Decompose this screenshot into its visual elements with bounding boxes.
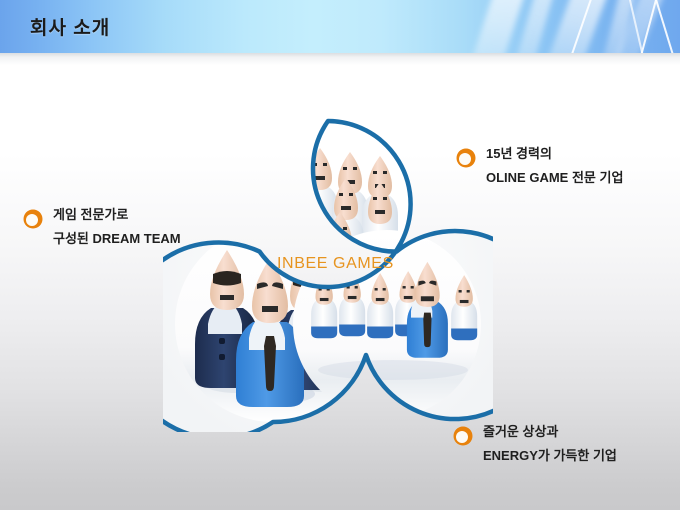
callout-line-2: 구성된 DREAM TEAM <box>53 232 181 246</box>
callout-text-block: 15년 경력의 OLINE GAME 전문 기업 <box>486 146 623 184</box>
callout-energy[interactable]: 즐거운 상상과 ENERGY가 가득한 기업 <box>452 424 617 462</box>
page-title: 회사 소개 <box>30 13 110 40</box>
callout-line-1: 15년 경력의 <box>486 147 623 161</box>
orange-ring-bullet-icon <box>22 208 44 230</box>
orange-ring-bullet-icon <box>455 147 477 169</box>
orange-ring-bullet-icon <box>452 425 474 447</box>
slide-canvas: 회사 소개 <box>0 0 680 510</box>
callout-text-block: 즐거운 상상과 ENERGY가 가득한 기업 <box>483 424 617 462</box>
header-drop-shadow <box>0 53 680 65</box>
callout-line-2: ENERGY가 가득한 기업 <box>483 449 617 463</box>
brand-label: INBEE GAMES <box>277 255 394 273</box>
callout-dream-team[interactable]: 게임 전문가로 구성된 DREAM TEAM <box>22 207 181 245</box>
callout-experience[interactable]: 15년 경력의 OLINE GAME 전문 기업 <box>455 146 623 184</box>
callout-line-2: OLINE GAME 전문 기업 <box>486 171 623 185</box>
callout-line-1: 게임 전문가로 <box>53 208 181 222</box>
callout-text-block: 게임 전문가로 구성된 DREAM TEAM <box>53 207 181 245</box>
callout-line-1: 즐거운 상상과 <box>483 425 617 439</box>
